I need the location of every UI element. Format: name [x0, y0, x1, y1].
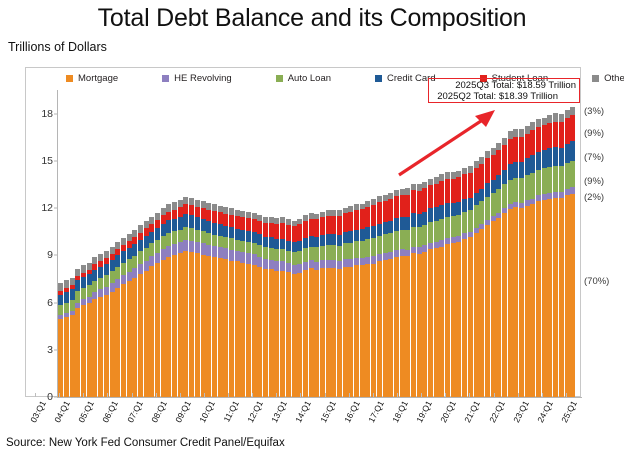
bar-segment: [394, 218, 399, 231]
bar-segment: [422, 225, 427, 245]
bar-segment: [394, 231, 399, 250]
bar-segment: [434, 221, 439, 242]
bar-segment: [508, 180, 513, 204]
bar-segment: [274, 224, 279, 239]
bar-segment: [496, 189, 501, 213]
bar-segment: [64, 280, 69, 287]
legend-item-label: Mortgage: [78, 73, 118, 84]
bar-segment: [149, 256, 154, 266]
bar-segment: [183, 227, 188, 240]
bar-segment: [286, 263, 291, 272]
bar-segment: [348, 243, 353, 260]
bar-segment: [451, 179, 456, 203]
bar-segment: [337, 269, 342, 397]
bar-segment: [513, 162, 518, 178]
bar-segment: [320, 268, 325, 397]
y-axis-tick-label: 12: [41, 202, 53, 214]
x-axis-labels: 03:Q104:Q105:Q106:Q107:Q108:Q109:Q110:Q1…: [32, 399, 581, 439]
bar-segment: [178, 200, 183, 207]
bar-segment: [365, 207, 370, 227]
bar-segment: [360, 229, 365, 240]
bar-segment: [542, 168, 547, 194]
bar-segment: [513, 207, 518, 397]
bar-segment: [400, 217, 405, 230]
bar-segment: [417, 227, 422, 247]
x-axis-tick-mark: [228, 393, 229, 397]
x-axis-tick-mark: [204, 393, 205, 397]
bar-segment: [508, 139, 513, 164]
bar-segment: [485, 225, 490, 397]
bar-segment: [439, 174, 444, 181]
bar-segment: [377, 254, 382, 261]
bar-segment: [525, 134, 530, 159]
bar-segment: [58, 305, 63, 315]
bar-segment: [229, 238, 234, 249]
bar-segment: [172, 255, 177, 397]
bar-segment: [530, 155, 535, 173]
bar-segment: [201, 201, 206, 208]
bar-segment: [269, 248, 274, 260]
bar-segment: [87, 274, 92, 285]
bar-segment: [383, 234, 388, 253]
bar-segment: [343, 213, 348, 232]
bar-segment: [229, 215, 234, 228]
bar-segment: [189, 205, 194, 215]
bar-segment: [400, 195, 405, 217]
bar-segment: [178, 242, 183, 253]
bar-segment: [570, 187, 575, 194]
bar-segment: [212, 257, 217, 397]
bar-segment: [274, 261, 279, 270]
bar-segment: [354, 210, 359, 230]
bar-segment: [121, 284, 126, 397]
bar-segment: [127, 248, 132, 259]
bar-segment: [183, 214, 188, 227]
bar-segment: [81, 277, 86, 288]
bar-segment: [206, 221, 211, 233]
bar-segment: [462, 199, 467, 212]
bar-segment: [297, 273, 302, 397]
bar-segment: [422, 188, 427, 211]
bar-segment: [189, 241, 194, 252]
bar-segment: [161, 215, 166, 224]
bar-segment: [371, 264, 376, 398]
bar-segment: [445, 203, 450, 217]
bar-segment: [343, 259, 348, 267]
y-axis-tick-label: 9: [47, 249, 53, 261]
bar-segment: [201, 243, 206, 254]
x-axis-tick-mark: [566, 393, 567, 397]
bar-segment: [92, 270, 97, 281]
bar-segment: [348, 267, 353, 397]
bar-segment: [502, 145, 507, 170]
bar-segment: [297, 264, 302, 273]
bar-segment: [400, 230, 405, 249]
bar-segment: [547, 123, 552, 148]
share-label-auto-loan: (9%): [584, 176, 604, 187]
bar-segment: [252, 243, 257, 254]
x-axis-tick-label: 12:Q1: [245, 399, 265, 424]
bar-segment: [292, 265, 297, 274]
bar-segment: [155, 240, 160, 253]
bar-segment: [297, 224, 302, 240]
bar-segment: [502, 138, 507, 145]
x-axis-tick-label: 24:Q1: [535, 399, 555, 424]
bar-segment: [269, 223, 274, 237]
bar-segment: [428, 222, 433, 242]
bar-segment: [155, 263, 160, 397]
bar-segment: [314, 262, 319, 270]
bar-segment: [383, 222, 388, 234]
bar-segment: [292, 252, 297, 265]
bar-segment: [110, 283, 115, 291]
bar-segment: [64, 317, 69, 397]
bar-segment: [570, 141, 575, 160]
bar-segment: [445, 179, 450, 203]
bar-segment: [320, 217, 325, 235]
bar-segment: [75, 269, 80, 277]
bar-segment: [417, 191, 422, 214]
bar-segment: [314, 237, 319, 248]
bar-segment: [519, 208, 524, 397]
bar-segment: [189, 215, 194, 228]
bar-segment: [178, 207, 183, 216]
bar-segment: [161, 224, 166, 236]
bar-segment: [229, 227, 234, 238]
bar-segment: [223, 214, 228, 226]
share-label-student-loan: (9%): [584, 128, 604, 139]
bar-segment: [104, 287, 109, 295]
bar-segment: [223, 226, 228, 237]
bar-segment: [263, 223, 268, 237]
bar-segment: [110, 271, 115, 283]
bar-segment: [559, 148, 564, 167]
bar-segment: [519, 178, 524, 203]
x-axis-tick-label: 14:Q1: [294, 399, 314, 424]
bar-segment: [360, 241, 365, 258]
bar-segment: [553, 113, 558, 121]
bar-segment: [462, 239, 467, 397]
bar-segment: [371, 226, 376, 238]
bar-segment: [189, 198, 194, 206]
share-label-he-revolving: (2%): [584, 192, 604, 203]
page-title: Total Debt Balance and its Composition: [0, 4, 624, 33]
bar-segment: [565, 195, 570, 397]
bar-segment: [172, 244, 177, 255]
bar-segment: [58, 319, 63, 397]
x-axis-tick-label: 21:Q1: [463, 399, 483, 424]
bar-segment: [257, 257, 262, 267]
bar-segment: [263, 247, 268, 258]
bar-segment: [491, 180, 496, 193]
bar-segment: [314, 270, 319, 397]
bar-segment: [417, 184, 422, 191]
bar-segment: [286, 272, 291, 397]
bar-segment: [434, 248, 439, 397]
bar-segment: [263, 259, 268, 269]
bar-segment: [201, 208, 206, 219]
bar-segment: [115, 267, 120, 279]
bar-segment: [439, 219, 444, 240]
bar-segment: [240, 252, 245, 263]
bar-segment: [530, 173, 535, 198]
x-axis-line: [57, 397, 582, 398]
y-axis-tick-label: 15: [41, 155, 53, 167]
bar-segment: [309, 219, 314, 236]
bar-segment: [127, 241, 132, 248]
bar-segment: [87, 263, 92, 271]
legend-item-label: Other: [604, 73, 624, 84]
bar-segment: [127, 272, 132, 281]
bar-segment: [110, 247, 115, 255]
bar-segment: [183, 204, 188, 214]
bar-segment: [485, 183, 490, 197]
bar-segment: [451, 243, 456, 397]
bar-segment: [502, 170, 507, 185]
bar-segment: [104, 295, 109, 397]
bar-segment: [451, 216, 456, 237]
bar-segment: [223, 237, 228, 248]
bar-segment: [161, 208, 166, 216]
bar-segment: [81, 265, 86, 273]
x-axis-tick-label: 09:Q1: [173, 399, 193, 424]
bar-segment: [212, 223, 217, 235]
source-note: Source: New York Fed Consumer Credit Pan…: [6, 437, 285, 449]
bar-segment: [462, 174, 467, 199]
x-axis-tick-mark: [59, 393, 60, 397]
legend-item-label: Auto Loan: [288, 73, 331, 84]
bar-segment: [337, 261, 342, 269]
bar-segment: [183, 240, 188, 251]
x-axis-tick-label: 10:Q1: [197, 399, 217, 424]
bar-segment: [388, 233, 393, 252]
bar-segment: [206, 203, 211, 210]
bar-segment: [377, 236, 382, 254]
bar-segment: [155, 228, 160, 240]
bar-segment: [155, 253, 160, 263]
x-axis-tick-mark: [421, 393, 422, 397]
x-axis-tick-label: 15:Q1: [318, 399, 338, 424]
bar-segment: [519, 162, 524, 178]
bar-segment: [394, 250, 399, 257]
bar-segment: [149, 266, 154, 397]
bar-segment: [428, 249, 433, 397]
bar-segment: [405, 250, 410, 257]
x-axis-tick-mark: [518, 393, 519, 397]
x-axis-tick-mark: [494, 393, 495, 397]
bar-segment: [388, 252, 393, 259]
bar-segment: [405, 195, 410, 217]
x-axis-tick-mark: [132, 393, 133, 397]
bar-segment: [246, 231, 251, 242]
bar-segment: [456, 215, 461, 236]
bar-segment: [525, 206, 530, 397]
bar-segment: [218, 212, 223, 224]
bar-segment: [354, 230, 359, 241]
x-axis-tick-mark: [445, 393, 446, 397]
x-axis-tick-mark: [180, 393, 181, 397]
bar-segment: [303, 248, 308, 262]
bar-column: [570, 90, 576, 397]
bar-segment: [377, 261, 382, 397]
x-axis-tick-mark: [542, 393, 543, 397]
bar-segment: [115, 288, 120, 397]
bar-segment: [434, 184, 439, 208]
x-axis-tick-mark: [252, 393, 253, 397]
bar-segment: [417, 214, 422, 228]
bar-segment: [127, 234, 132, 241]
bar-segment: [309, 236, 314, 246]
bar-segment: [331, 216, 336, 235]
bar-segment: [218, 206, 223, 213]
bar-segment: [411, 213, 416, 227]
bar-segment: [388, 199, 393, 220]
bar-segment: [138, 225, 143, 232]
bar-segment: [400, 256, 405, 397]
legend-item-auto-loan[interactable]: Auto Loan: [276, 73, 331, 84]
x-axis-tick-label: 23:Q1: [511, 399, 531, 424]
legend-item-mortgage[interactable]: Mortgage: [66, 73, 118, 84]
bar-segment: [553, 166, 558, 192]
bar-segment: [439, 247, 444, 398]
bar-segment: [383, 260, 388, 397]
bar-segment: [292, 226, 297, 242]
plot-area: [58, 90, 576, 397]
bar-segment: [286, 251, 291, 263]
bar-segment: [547, 199, 552, 397]
x-axis-tick-mark: [83, 393, 84, 397]
bar-segment: [206, 245, 211, 256]
x-axis-tick-label: 16:Q1: [342, 399, 362, 424]
bar-segment: [331, 245, 336, 260]
bar-segment: [155, 213, 160, 220]
bar-segment: [525, 175, 530, 200]
bar-segment: [320, 260, 325, 268]
bar-segment: [559, 114, 564, 122]
bar-segment: [138, 240, 143, 251]
bar-segment: [519, 129, 524, 136]
bar-segment: [474, 233, 479, 397]
bar-segment: [383, 253, 388, 260]
bar-segment: [161, 260, 166, 397]
bar-segment: [263, 269, 268, 397]
legend-swatch-icon: [276, 75, 283, 82]
bar-segment: [166, 204, 171, 212]
legend-swatch-icon: [592, 75, 599, 82]
x-axis-tick-mark: [397, 393, 398, 397]
bar-segment: [201, 219, 206, 231]
x-axis-tick-label: 13:Q1: [269, 399, 289, 424]
bar-segment: [394, 196, 399, 218]
chart-container: MortgageHE RevolvingAuto LoanCredit Card…: [25, 67, 581, 397]
bar-segment: [127, 259, 132, 271]
bar-segment: [87, 285, 92, 296]
bar-segment: [155, 220, 160, 228]
bar-segment: [485, 197, 490, 220]
bar-segment: [536, 119, 541, 127]
bar-segment: [235, 229, 240, 240]
bar-segment: [508, 164, 513, 180]
bar-segment: [479, 229, 484, 397]
bar-segment: [400, 249, 405, 256]
bar-segment: [428, 208, 433, 222]
bar-segment: [81, 305, 86, 397]
bar-segment: [474, 193, 479, 205]
bar-segment: [132, 244, 137, 255]
bar-segment: [479, 189, 484, 202]
bar-segment: [411, 253, 416, 397]
x-axis-tick-label: 05:Q1: [76, 399, 96, 424]
bar-segment: [474, 168, 479, 193]
bar-segment: [252, 265, 257, 397]
bar-segment: [388, 221, 393, 234]
bar-segment: [104, 264, 109, 275]
bar-segment: [269, 237, 274, 248]
bar-segment: [58, 295, 63, 306]
bar-segment: [502, 184, 507, 208]
bar-segment: [462, 168, 467, 175]
bar-segment: [144, 271, 149, 397]
bar-segment: [553, 198, 558, 397]
x-axis-tick-label: 07:Q1: [125, 399, 145, 424]
bar-segment: [491, 155, 496, 180]
bar-segment: [559, 166, 564, 192]
bar-segment: [92, 257, 97, 265]
bar-segment: [257, 234, 262, 245]
bar-segment: [326, 268, 331, 397]
legend-item-credit-card[interactable]: Credit Card: [375, 73, 436, 84]
bar-segment: [92, 281, 97, 292]
bar-segment: [468, 210, 473, 232]
bar-segment: [371, 205, 376, 226]
bar-segment: [468, 173, 473, 198]
legend-swatch-icon: [162, 75, 169, 82]
legend-swatch-icon: [375, 75, 382, 82]
bar-segment: [115, 279, 120, 288]
bar-segment: [451, 203, 456, 216]
bar-segment: [195, 253, 200, 397]
bar-segment: [303, 238, 308, 249]
bar-segment: [132, 237, 137, 244]
legend-item-other[interactable]: Other: [592, 73, 624, 84]
bar-segment: [286, 225, 291, 241]
bar-segment: [320, 235, 325, 246]
x-axis-tick-label: 22:Q1: [487, 399, 507, 424]
x-axis-tick-mark: [325, 393, 326, 397]
y-axis-tick-label: 6: [47, 297, 53, 309]
bar-segment: [104, 275, 109, 286]
bar-segment: [565, 144, 570, 163]
bar-segment: [92, 292, 97, 299]
bar-segment: [405, 217, 410, 230]
bar-segment: [195, 217, 200, 230]
bar-segment: [149, 224, 154, 232]
bar-segment: [513, 178, 518, 203]
legend-item-he-revolving[interactable]: HE Revolving: [162, 73, 232, 84]
x-axis-tick-mark: [156, 393, 157, 397]
bar-segment: [127, 281, 132, 397]
bar-segment: [229, 250, 234, 261]
bar-segment: [64, 292, 69, 303]
bar-segment: [75, 280, 80, 291]
bar-segment: [570, 194, 575, 397]
bar-segment: [252, 254, 257, 264]
bar-segment: [132, 256, 137, 268]
bar-segment: [348, 212, 353, 231]
bar-segment: [354, 241, 359, 258]
bar-segment: [388, 259, 393, 397]
bar-segment: [280, 271, 285, 397]
